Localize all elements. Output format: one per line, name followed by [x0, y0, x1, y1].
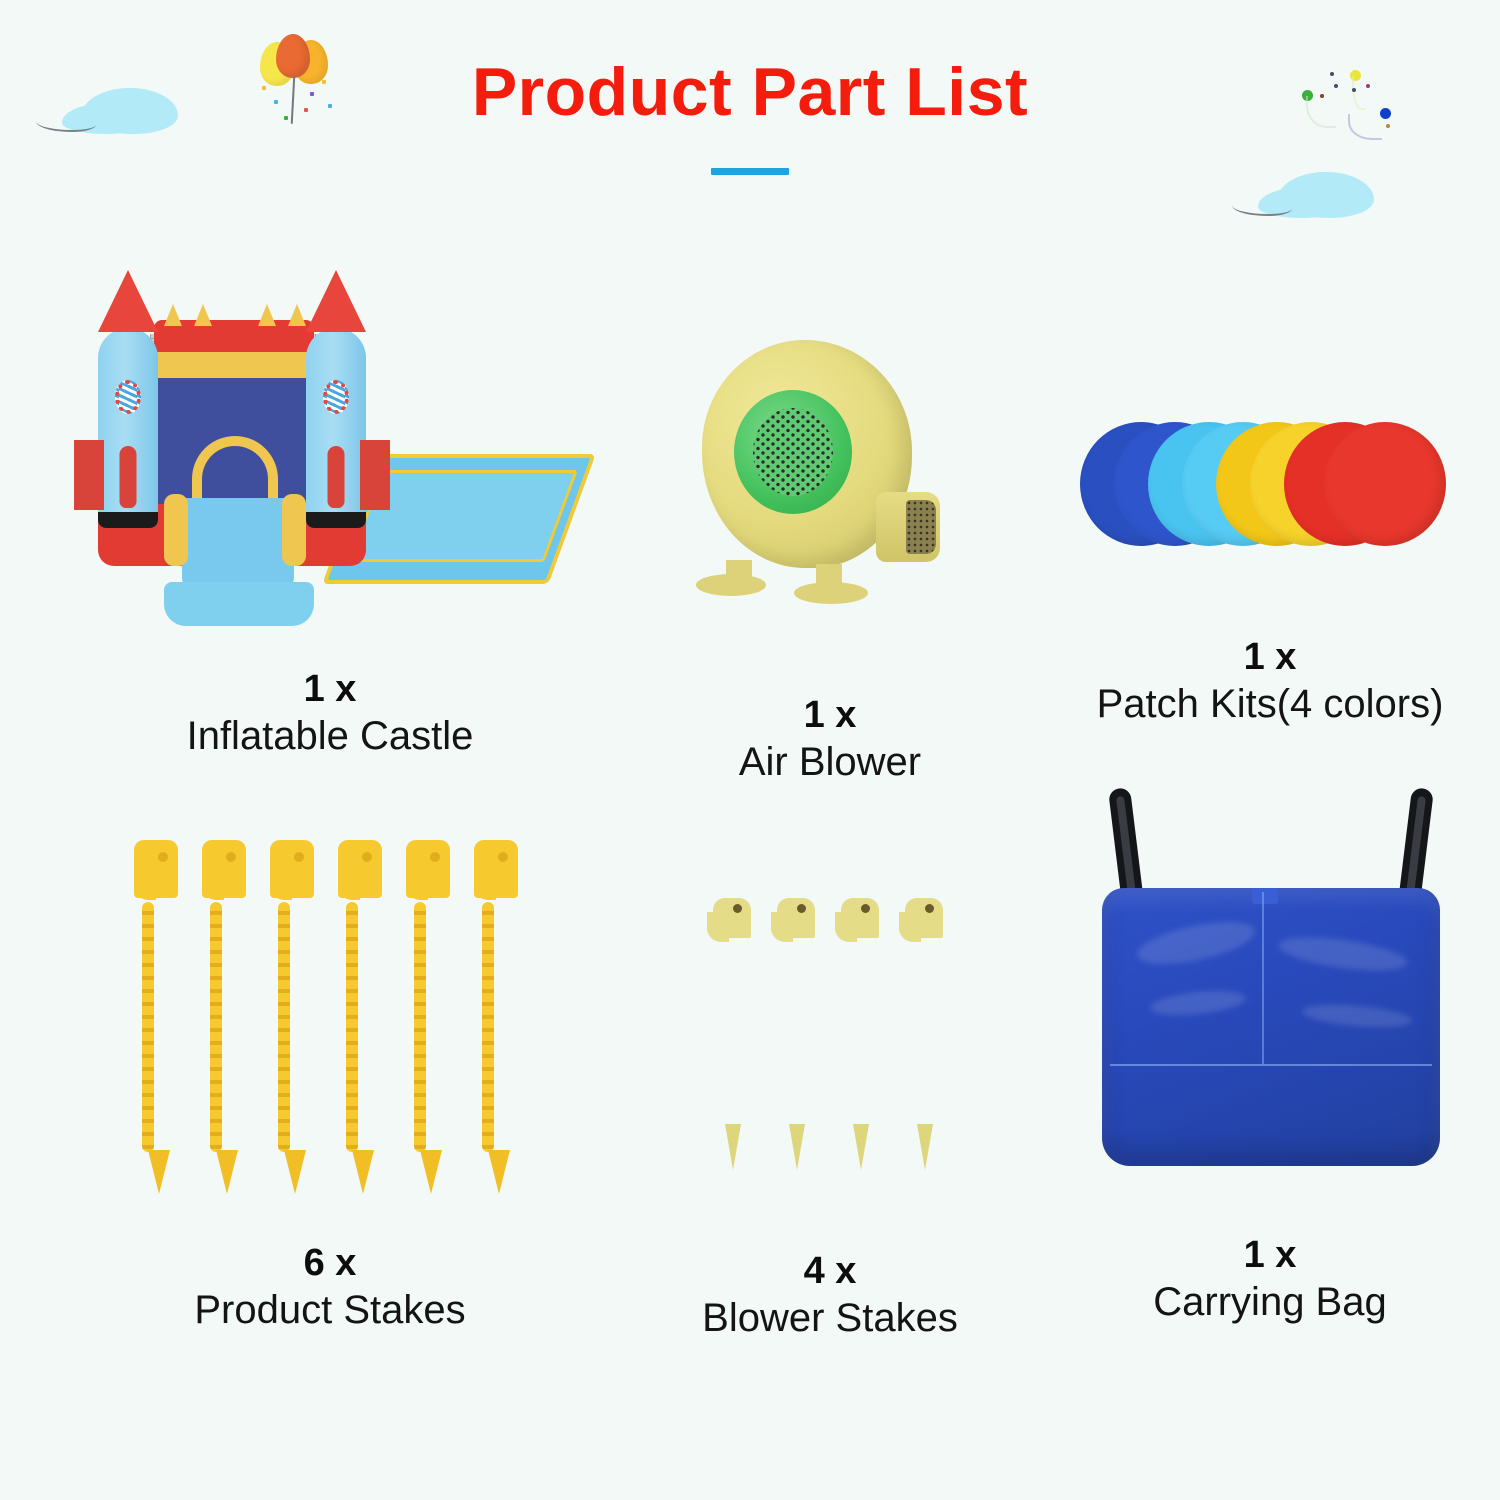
header: Product Part List: [0, 58, 1500, 175]
bag-vertical-seam: [1262, 892, 1264, 1064]
product-stakes-image: [120, 840, 540, 1220]
stake-hole: [362, 852, 372, 862]
patch-kits-caption: 1 x Patch Kits(4 colors): [1050, 636, 1490, 728]
stake-tip: [420, 1150, 442, 1194]
stake-tip: [352, 1150, 374, 1194]
blower-stake: [771, 898, 815, 1170]
castle-slide-apron: [164, 582, 314, 626]
blower-foot-left: [696, 574, 766, 596]
product-stake: [270, 840, 314, 1192]
tower-porthole-emblem: [323, 380, 349, 414]
castle-spire: [258, 304, 276, 326]
stake-hole: [226, 852, 236, 862]
inflatable-castle-label: Inflatable Castle: [50, 712, 610, 760]
item-inflatable-castle: 1 x Inflatable Castle: [50, 284, 610, 760]
stake-hole: [498, 852, 508, 862]
stake-serrations: [482, 902, 494, 1152]
blower-stakes-label: Blower Stakes: [610, 1294, 1050, 1342]
stake-tip: [725, 1124, 741, 1170]
stake-serrations: [278, 902, 290, 1152]
stake-serrations: [414, 902, 426, 1152]
inflatable-castle-qty: 1 x: [50, 668, 610, 712]
stake-tip: [789, 1124, 805, 1170]
air-blower-image: [690, 332, 970, 642]
castle-body: [98, 308, 368, 558]
product-stake: [134, 840, 178, 1192]
carrying-bag-qty: 1 x: [1050, 1234, 1490, 1278]
carrying-bag-label: Carrying Bag: [1050, 1278, 1490, 1326]
bag-wrinkle: [1149, 987, 1247, 1019]
product-part-list-page: Product Part List: [0, 0, 1500, 1500]
blower-outlet-port: [876, 492, 940, 562]
patch-kits-qty: 1 x: [1050, 636, 1490, 680]
patch-kits-image: [1080, 404, 1460, 584]
stake-shaft: [789, 930, 805, 1130]
bag-wrinkle: [1134, 914, 1258, 972]
castle-crenellation: [154, 320, 314, 354]
blower-stake: [707, 898, 751, 1170]
tower-skirt: [306, 512, 366, 528]
blower-stake: [899, 898, 943, 1170]
inflatable-castle-caption: 1 x Inflatable Castle: [50, 668, 610, 760]
stake-hole: [733, 904, 742, 913]
item-carrying-bag: 1 x Carrying Bag: [1050, 780, 1490, 1326]
bag-wrinkle: [1277, 931, 1410, 977]
product-stake: [406, 840, 450, 1192]
stake-shaft: [917, 930, 933, 1130]
carrying-bag-image: [1060, 780, 1480, 1210]
castle-tower-left: [98, 328, 158, 528]
stake-tip: [148, 1150, 170, 1194]
castle-spire: [164, 304, 182, 326]
product-stakes-caption: 6 x Product Stakes: [50, 1242, 610, 1334]
tower-center-fin: [328, 446, 345, 508]
inflatable-castle-image: [80, 284, 580, 644]
bag-body: [1102, 888, 1440, 1166]
tower-fin-wing: [74, 440, 104, 510]
air-blower-caption: 1 x Air Blower: [610, 694, 1050, 786]
blower-stake: [835, 898, 879, 1170]
carrying-bag-caption: 1 x Carrying Bag: [1050, 1234, 1490, 1326]
product-stake: [338, 840, 382, 1192]
stake-tip: [917, 1124, 933, 1170]
patch-red: [1324, 422, 1446, 546]
stake-serrations: [210, 902, 222, 1152]
item-patch-kits: 1 x Patch Kits(4 colors): [1050, 284, 1490, 728]
tower-fin-wing: [360, 440, 390, 510]
castle-spire: [194, 304, 212, 326]
patch-kits-label: Patch Kits(4 colors): [1050, 680, 1490, 728]
stake-serrations: [346, 902, 358, 1152]
item-air-blower: 1 x Air Blower: [610, 284, 1050, 786]
blower-stakes-image: [695, 898, 965, 1188]
blower-intake-ring: [734, 390, 852, 514]
bag-horizontal-seam: [1110, 1064, 1432, 1066]
product-stake: [474, 840, 518, 1192]
air-blower-qty: 1 x: [610, 694, 1050, 738]
stake-hole: [925, 904, 934, 913]
tower-porthole-emblem: [115, 380, 141, 414]
castle-slide-rail-right: [282, 494, 306, 566]
castle-spire: [288, 304, 306, 326]
tower-cone-red: [306, 270, 366, 332]
castle-yellow-beam: [138, 352, 334, 378]
bag-wrinkle: [1301, 1001, 1412, 1031]
stake-hole: [861, 904, 870, 913]
item-blower-stakes: 4 x Blower Stakes: [610, 840, 1050, 1342]
stake-shaft: [853, 930, 869, 1130]
product-stakes-qty: 6 x: [50, 1242, 610, 1286]
blower-stakes-qty: 4 x: [610, 1250, 1050, 1294]
stake-tip: [284, 1150, 306, 1194]
tower-center-fin: [120, 446, 137, 508]
stake-shaft: [725, 930, 741, 1130]
stake-hole: [158, 852, 168, 862]
bag-top-tab: [1252, 888, 1278, 904]
tower-skirt: [98, 512, 158, 528]
castle-slide-rail-left: [164, 494, 188, 566]
title-underline: [711, 168, 789, 175]
stake-hole: [294, 852, 304, 862]
stake-tip: [216, 1150, 238, 1194]
stake-hole: [797, 904, 806, 913]
product-stake: [202, 840, 246, 1192]
air-blower-label: Air Blower: [610, 738, 1050, 786]
stake-hole: [430, 852, 440, 862]
castle-tower-right: [306, 328, 366, 528]
blower-stakes-caption: 4 x Blower Stakes: [610, 1250, 1050, 1342]
item-product-stakes: 6 x Product Stakes: [50, 840, 610, 1334]
tower-cone-red: [98, 270, 158, 332]
page-title: Product Part List: [0, 58, 1500, 126]
stake-tip: [853, 1124, 869, 1170]
stake-tip: [488, 1150, 510, 1194]
blower-foot-right: [794, 582, 868, 604]
cloud-decoration-right: [1278, 172, 1374, 218]
product-stakes-label: Product Stakes: [50, 1286, 610, 1334]
blower-intake-grille: [753, 408, 833, 496]
blower-outlet-mesh: [906, 500, 936, 554]
stake-serrations: [142, 902, 154, 1152]
